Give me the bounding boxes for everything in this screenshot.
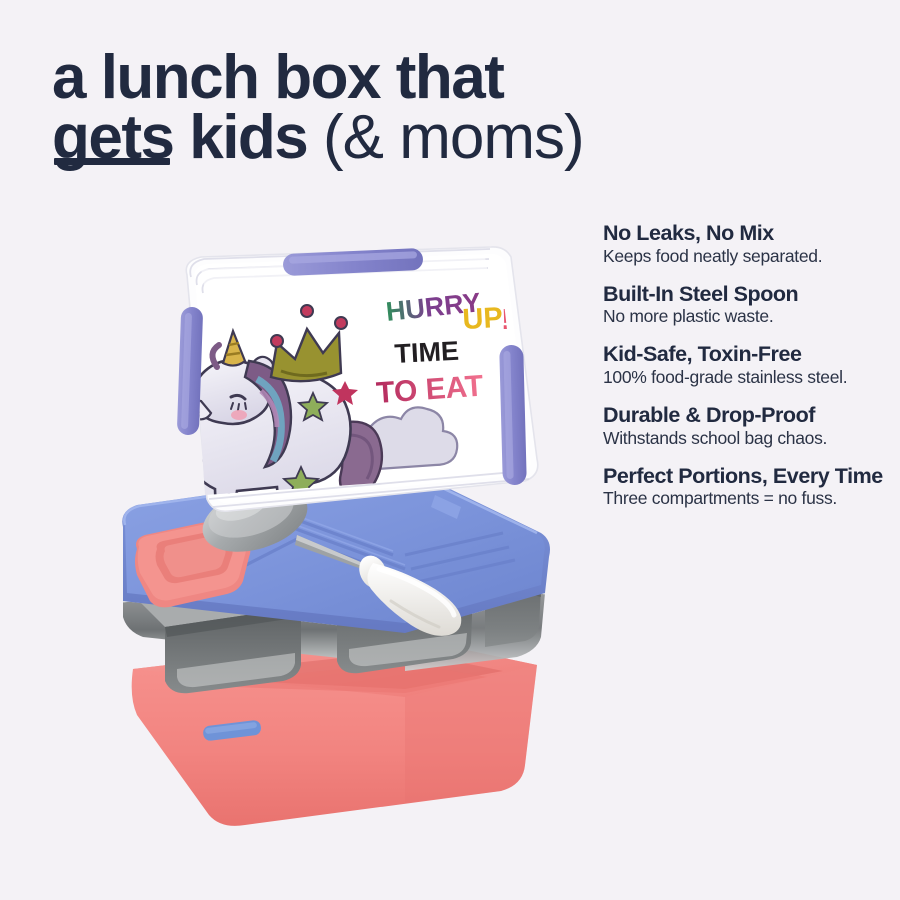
unicorn-blush <box>231 410 247 420</box>
lid-text-time: TIME <box>394 336 460 369</box>
feature-title: Built-In Steel Spoon <box>603 283 895 306</box>
feature-item: Perfect Portions, Every Time Three compa… <box>603 465 895 509</box>
page-title: a lunch box that gets kids (& moms) <box>52 48 852 167</box>
feature-item: Kid-Safe, Toxin-Free 100% food-grade sta… <box>603 343 895 387</box>
lid-text-up: UP <box>462 302 504 336</box>
headline-line-1: a lunch box that <box>52 48 852 108</box>
headline-line-2-rest: kids <box>173 103 323 172</box>
headline-underlined-word: gets <box>52 108 173 168</box>
feature-title: No Leaks, No Mix <box>603 222 895 245</box>
feature-description: Keeps food neatly separated. <box>603 247 895 266</box>
feature-item: Durable & Drop-Proof Withstands school b… <box>603 404 895 448</box>
headline-line-2: gets kids (& moms) <box>52 108 852 168</box>
feature-description: No more plastic waste. <box>603 307 895 326</box>
feature-description: 100% food-grade stainless steel. <box>603 368 895 387</box>
feature-title: Perfect Portions, Every Time <box>603 465 895 488</box>
feature-item: Built-In Steel Spoon No more plastic was… <box>603 283 895 327</box>
product-image: HURRY UP ! TIME TO EAT <box>105 245 565 825</box>
marketing-graphic: a lunch box that gets kids (& moms) No L… <box>0 0 900 900</box>
latch-right <box>499 345 527 486</box>
feature-title: Durable & Drop-Proof <box>603 404 895 427</box>
latch-left <box>177 307 203 436</box>
headline-parenthetical: (& moms) <box>323 103 584 172</box>
feature-title: Kid-Safe, Toxin-Free <box>603 343 895 366</box>
feature-description: Withstands school bag chaos. <box>603 429 895 448</box>
feature-description: Three compartments = no fuss. <box>603 489 895 508</box>
feature-list: No Leaks, No Mix Keeps food neatly separ… <box>603 222 895 508</box>
feature-item: No Leaks, No Mix Keeps food neatly separ… <box>603 222 895 266</box>
